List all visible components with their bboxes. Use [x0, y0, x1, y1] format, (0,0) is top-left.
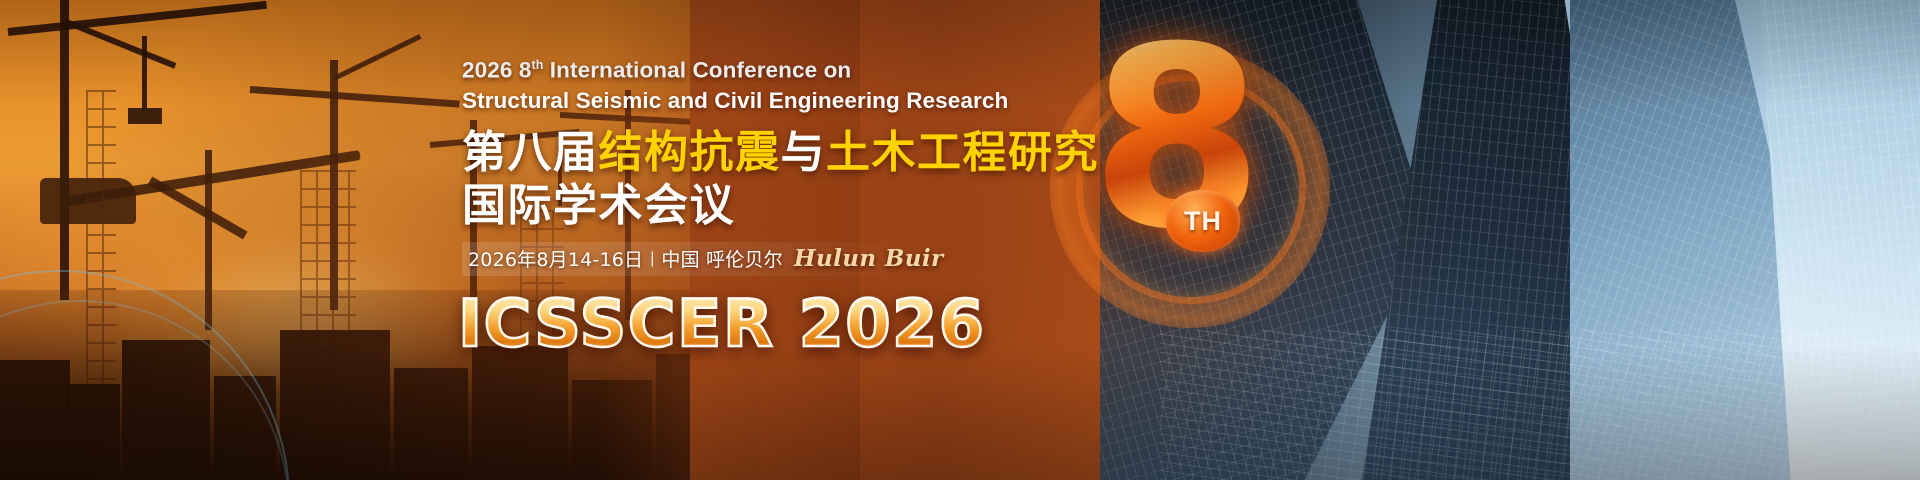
conference-location-cn: 中国 呼伦贝尔 [661, 245, 782, 272]
english-title-edition-number: 8 [519, 58, 532, 83]
english-title-line1: 2026 8th International Conference on [462, 50, 1082, 86]
crane-mast-icon [60, 0, 69, 300]
crane-jib-icon [250, 86, 460, 108]
building-silhouette [280, 330, 390, 480]
chinese-title: 第八届结构抗震与土木工程研究 国际学术会议 [462, 126, 1082, 232]
conference-location-en: Hulun Buir [794, 245, 944, 272]
crane-hoist-line [142, 36, 147, 110]
english-title-line2: Structural Seismic and Civil Engineering… [462, 86, 1082, 116]
english-title-year: 2026 [462, 58, 519, 83]
chinese-title-line1: 第八届结构抗震与土木工程研究 [462, 126, 1082, 179]
crane-hook-block [128, 108, 162, 124]
english-title-edition-suffix: th [531, 58, 543, 72]
conference-banner: 8 TH 2026 8th International Conference o… [0, 0, 1920, 480]
banner-text-content: 2026 8th International Conference on Str… [462, 50, 1082, 360]
conference-acronym-logo: ICSSCER 2026 [458, 290, 1082, 360]
building-silhouette [472, 346, 568, 480]
chinese-title-seg-structural-seismic: 结构抗震 [599, 127, 781, 178]
conference-date: 2026年8月14-16日 [468, 245, 643, 272]
emblem-th-label: TH [1184, 206, 1222, 237]
chinese-title-seg-edition: 第八届 [462, 127, 599, 178]
english-title-line1-rest: International Conference on [543, 58, 851, 83]
emblem-th-badge: TH [1166, 190, 1240, 252]
window-grid-bottom [1160, 330, 1920, 480]
crane-counterjib-icon [333, 34, 421, 81]
building-silhouette [394, 368, 468, 480]
chinese-title-line2: 国际学术会议 [462, 179, 1082, 232]
meta-separator: | [650, 250, 654, 268]
crane-jib-icon [8, 1, 267, 36]
chinese-title-seg-and: 与 [781, 127, 827, 178]
crane-counterjib-icon [63, 18, 177, 69]
date-location-bar: 2026年8月14-16日 | 中国 呼伦贝尔 Hulun Buir [462, 242, 914, 276]
chinese-title-seg-civil-engineering-research: 土木工程研究 [826, 127, 1099, 178]
